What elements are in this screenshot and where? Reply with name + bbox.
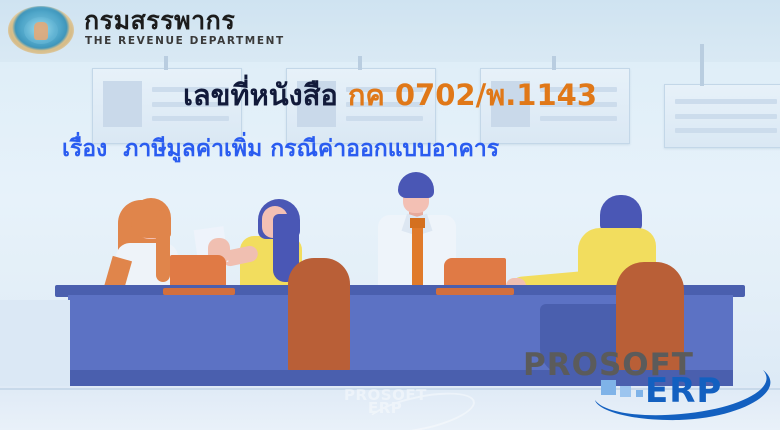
necktie-knot [410,218,425,228]
person-hair-strand [156,210,170,282]
prosoft-erp-logo: PROSOFT ERP [505,348,777,426]
logo-swoosh-icon [593,366,775,424]
panel-stem [552,56,556,70]
panel-line [346,116,423,121]
subject-label: เรื่อง [62,136,107,162]
document-number-headline: เลขที่หนังสือกค 0702/พ.1143 [0,80,780,112]
person-hair [600,195,642,231]
panel-line [540,116,617,121]
revenue-department-banner: PROSOFT ERP กรมสรรพากร THE REVENUE DEPAR… [0,0,780,430]
agency-name-thai: กรมสรรพากร [84,8,235,33]
prosoft-erp-watermark: PROSOFT ERP [340,388,500,428]
agency-header: กรมสรรพากร THE REVENUE DEPARTMENT [0,0,340,58]
laptop-base [163,288,235,295]
panel-stem [164,56,168,70]
agency-name-english: THE REVENUE DEPARTMENT [85,36,285,47]
laptop-base [436,288,514,295]
subject-text: ภาษีมูลค่าเพิ่ม กรณีค่าออกแบบอาคาร [123,136,499,162]
panel-line [675,128,778,133]
panel-stem [358,56,362,70]
document-number-value: กค 0702/พ.1143 [348,78,597,112]
necktie [412,222,423,290]
wall-panel-left [0,300,70,386]
office-chair [288,258,350,376]
document-subject-line: เรื่องภาษีมูลค่าเพิ่ม กรณีค่าออกแบบอาคาร [62,136,499,162]
seal-emblem-figure [34,22,48,40]
document-number-label: เลขที่หนังสือ [183,78,338,112]
revenue-department-seal-icon [8,6,74,54]
panel-line [675,114,778,119]
panel-line [152,116,229,121]
